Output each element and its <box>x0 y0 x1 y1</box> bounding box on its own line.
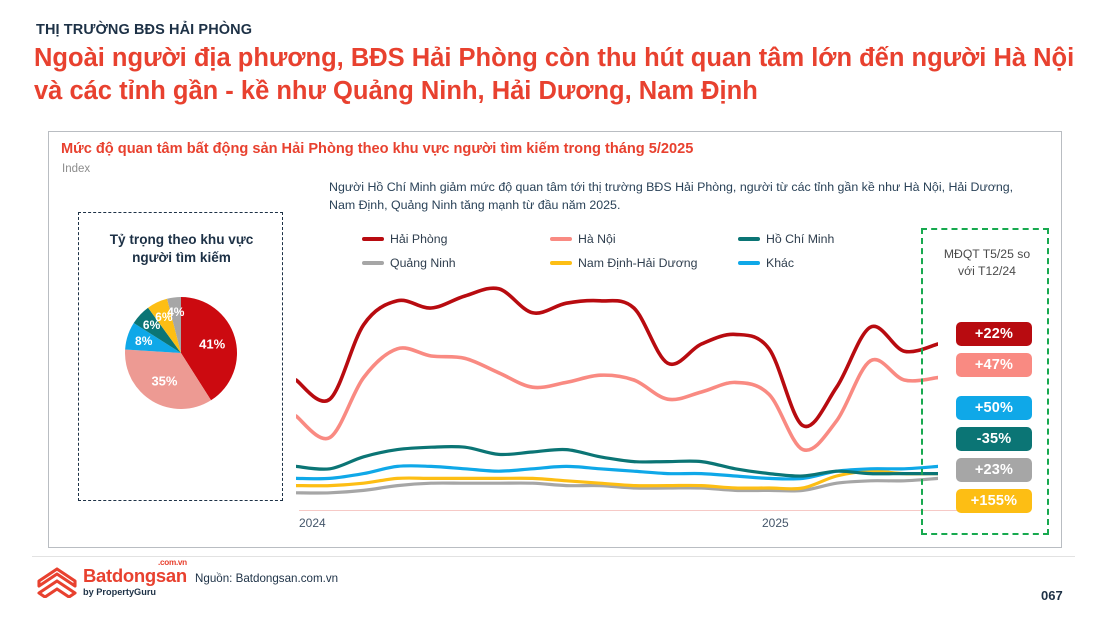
page-number: 067 <box>1041 588 1063 603</box>
line-series[interactable] <box>296 288 938 426</box>
summary-badge[interactable]: +47% <box>956 353 1032 377</box>
line-series[interactable] <box>296 447 938 476</box>
chart-axis-unit: Index <box>62 163 90 175</box>
legend-swatch-icon <box>738 261 760 264</box>
footer-divider <box>32 556 1075 557</box>
summary-box: MĐQT T5/25 so với T12/24 +22%+47%+50%-35… <box>921 228 1049 535</box>
summary-badge[interactable]: +155% <box>956 489 1032 513</box>
slide-kicker: THỊ TRƯỜNG BĐS HẢI PHÒNG <box>36 22 252 38</box>
summary-badge[interactable]: +23% <box>956 458 1032 482</box>
chart-annotation: Người Hồ Chí Minh giảm mức độ quan tâm t… <box>329 179 1019 215</box>
legend-item[interactable]: Hải Phòng <box>362 232 550 246</box>
source-note: Nguồn: Batdongsan.com.vn <box>195 572 338 585</box>
legend-item[interactable]: Quảng Ninh <box>362 256 550 270</box>
pie-title-line2: người tìm kiếm <box>132 250 231 265</box>
summary-title-line1: MĐQT T5/25 so <box>944 247 1030 261</box>
summary-badge[interactable]: +22% <box>956 322 1032 346</box>
legend-label: Hồ Chí Minh <box>766 232 834 246</box>
brand-byline: by PropertyGuru <box>83 588 187 597</box>
slide-headline: Ngoài người địa phương, BĐS Hải Phòng cò… <box>34 42 1079 108</box>
legend-label: Hải Phòng <box>390 232 447 246</box>
legend-swatch-icon <box>362 261 384 264</box>
legend-label: Quảng Ninh <box>390 256 456 270</box>
legend-swatch-icon <box>550 237 572 240</box>
legend-item[interactable]: Khác <box>738 256 926 270</box>
line-chart-svg <box>296 272 938 512</box>
pie-title-line1: Tỷ trọng theo khu vực <box>110 232 254 247</box>
slide-root: THỊ TRƯỜNG BĐS HẢI PHÒNG Ngoài người địa… <box>0 0 1107 619</box>
brand-word: Batdongsan <box>83 565 187 586</box>
legend-swatch-icon <box>362 237 384 240</box>
legend-swatch-icon <box>550 261 572 264</box>
legend-label: Khác <box>766 256 794 270</box>
legend-label: Nam Định-Hải Dương <box>578 256 698 270</box>
line-chart <box>296 272 938 512</box>
x-axis-line <box>299 510 999 511</box>
legend-swatch-icon <box>738 237 760 240</box>
brand-logo-text: Batdongsan .com.vn by PropertyGuru <box>83 567 187 597</box>
line-series[interactable] <box>296 348 938 450</box>
brand-tld: .com.vn <box>158 559 187 567</box>
chart-title: Mức độ quan tâm bất động sản Hải Phòng t… <box>61 141 693 157</box>
summary-title-line2: với T12/24 <box>958 264 1016 278</box>
chart-card: Mức độ quan tâm bất động sản Hải Phòng t… <box>48 131 1062 548</box>
legend-item[interactable]: Nam Định-Hải Dương <box>550 256 738 270</box>
summary-badge[interactable]: +50% <box>956 396 1032 420</box>
pie-chart: 41%35%8%6%6%4% <box>125 297 237 414</box>
pie-svg <box>125 297 237 409</box>
brand-logo: Batdongsan .com.vn by PropertyGuru <box>36 566 187 598</box>
x-tick-2024: 2024 <box>299 516 326 530</box>
legend-label: Hà Nội <box>578 232 616 246</box>
legend-item[interactable]: Hồ Chí Minh <box>738 232 926 246</box>
summary-box-title: MĐQT T5/25 so với T12/24 <box>923 246 1051 280</box>
pie-panel: Tỷ trọng theo khu vực người tìm kiếm 41%… <box>78 212 283 501</box>
pie-title: Tỷ trọng theo khu vực người tìm kiếm <box>79 231 284 267</box>
legend-item[interactable]: Hà Nội <box>550 232 738 246</box>
chart-legend: Hải PhòngHà NộiHồ Chí MinhQuảng NinhNam … <box>362 232 942 270</box>
x-tick-2025: 2025 <box>762 516 789 530</box>
batdongsan-house-icon <box>36 566 78 598</box>
brand-name: Batdongsan .com.vn <box>83 567 187 586</box>
summary-badge[interactable]: -35% <box>956 427 1032 451</box>
